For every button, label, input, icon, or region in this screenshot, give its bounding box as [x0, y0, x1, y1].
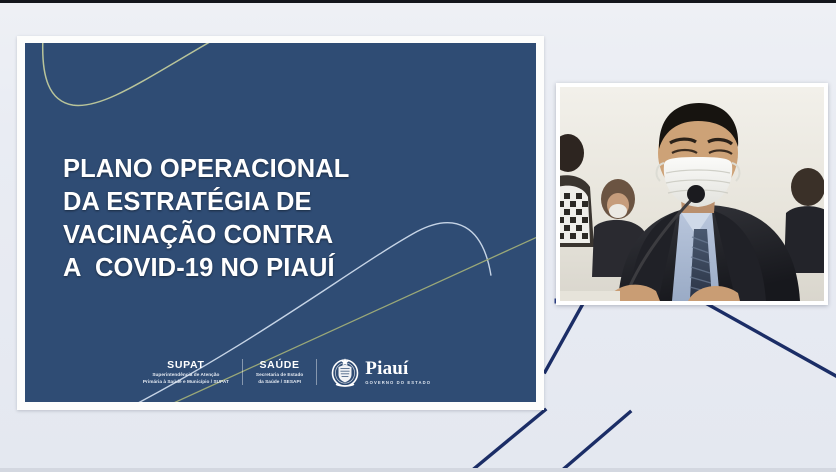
logo-supat: SUPAT Superintendência de Atenção Primár… [130, 359, 242, 385]
slide-title: PLANO OPERACIONAL DA ESTRATÉGIA DE VACIN… [63, 153, 349, 285]
logo-saude-name: SAÚDE [256, 359, 303, 371]
governo-subtitle: GOVERNO DO ESTADO [365, 380, 431, 385]
logo-supat-subtitle: Superintendência de Atenção Primária à S… [143, 372, 229, 385]
presentation-slide[interactable]: PLANO OPERACIONAL DA ESTRATÉGIA DE VACIN… [17, 36, 544, 410]
governo-name: Piauí [365, 359, 431, 378]
slide-canvas: PLANO OPERACIONAL DA ESTRATÉGIA DE VACIN… [25, 43, 536, 402]
video-feed[interactable] [560, 87, 824, 301]
top-band [0, 0, 836, 3]
logo-saude-subtitle: Secretaria de Estado da Saúde / SESAPI [256, 372, 303, 385]
bottom-band [0, 468, 836, 472]
slide-logo-bar: SUPAT Superintendência de Atenção Primár… [25, 356, 536, 388]
brasao-piaui-icon [330, 356, 360, 388]
broadcast-screen: PLANO OPERACIONAL DA ESTRATÉGIA DE VACIN… [0, 0, 836, 472]
logo-governo-piaui: Piauí GOVERNO DO ESTADO [317, 356, 431, 388]
video-subject-image [560, 87, 824, 301]
video-frame[interactable] [556, 83, 828, 305]
logo-saude: SAÚDE Secretaria de Estado da Saúde / SE… [243, 359, 316, 385]
logo-supat-name: SUPAT [143, 359, 229, 371]
governo-text: Piauí GOVERNO DO ESTADO [365, 359, 431, 385]
